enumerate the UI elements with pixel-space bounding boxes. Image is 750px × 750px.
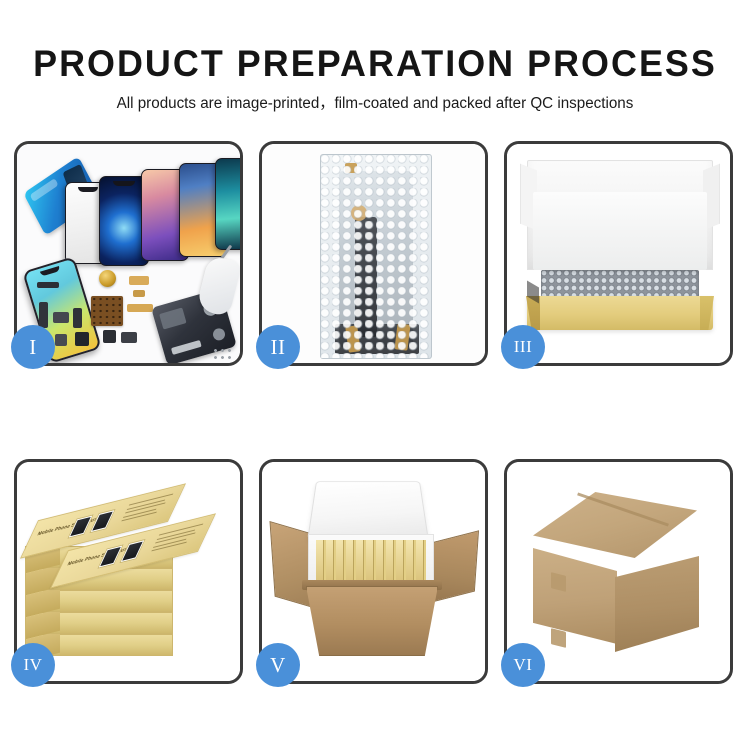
process-step-5: V: [259, 459, 488, 684]
step-badge-6: VI: [501, 643, 545, 687]
process-step-grid: I II: [14, 141, 736, 684]
step-6-image: [507, 462, 730, 681]
page-subtitle: All products are image-printed，film-coat…: [8, 96, 743, 112]
screw-tray: [91, 296, 123, 326]
page-title: PRODUCT PREPARATION PROCESS: [11, 45, 739, 82]
spare-part: [53, 312, 69, 323]
flex-cable: [355, 217, 377, 337]
carton-front-panel: [306, 586, 438, 656]
retail-box-stack: Mobile Phone Spare Parts Mobile Phone Sp…: [23, 488, 235, 668]
step-4-image: Mobile Phone Spare Parts Mobile Phone Sp…: [17, 462, 240, 681]
step-2-image: [262, 144, 485, 363]
spare-part: [103, 330, 116, 343]
spare-part: [55, 334, 67, 346]
carton-tape-patch: [551, 628, 566, 648]
spare-part: [129, 276, 149, 285]
foam-padding: [533, 192, 707, 270]
spare-part: [73, 308, 82, 328]
box-spec-lines: [119, 493, 174, 527]
process-step-1: I: [14, 141, 243, 366]
wrapped-part: [339, 171, 413, 347]
step-badge-4: IV: [11, 643, 55, 687]
header: PRODUCT PREPARATION PROCESS All products…: [0, 0, 750, 112]
infographic-page: PRODUCT PREPARATION PROCESS All products…: [0, 0, 750, 750]
process-step-2: II: [259, 141, 488, 366]
bubble-wrap-bag: [320, 154, 432, 359]
foam-box-lid: [307, 481, 428, 539]
step-5-image: [262, 462, 485, 681]
spare-part: [37, 282, 59, 288]
step-badge-5: V: [256, 643, 300, 687]
step-1-image: [17, 144, 240, 363]
step-badge-2: II: [256, 325, 300, 369]
process-step-6: VI: [504, 459, 733, 684]
loose-screws: [212, 347, 232, 359]
packed-retail-boxes: [316, 540, 426, 584]
step-badge-1: I: [11, 325, 55, 369]
gold-connector: [394, 323, 410, 350]
spare-part: [133, 290, 145, 297]
process-step-3: III: [504, 141, 733, 366]
gold-coil-part: [99, 270, 116, 287]
gold-connector: [345, 325, 361, 352]
spare-part: [75, 332, 89, 346]
kraft-tray: [527, 296, 713, 330]
phone-screen-fan: [65, 158, 240, 268]
retail-box-body: [25, 612, 173, 634]
gold-connector: [345, 163, 357, 173]
carton-tape-patch: [551, 572, 566, 592]
retail-box-body: [25, 590, 173, 612]
part-base: [335, 324, 419, 354]
step-3-image: [507, 144, 730, 363]
spare-part: [127, 304, 153, 312]
spare-part: [39, 302, 48, 328]
step-badge-3: III: [501, 325, 545, 369]
box-spec-lines: [149, 523, 204, 557]
process-step-4: Mobile Phone Spare Parts Mobile Phone Sp…: [14, 459, 243, 684]
phone-screen-teal: [215, 158, 240, 250]
spare-part: [121, 332, 137, 343]
